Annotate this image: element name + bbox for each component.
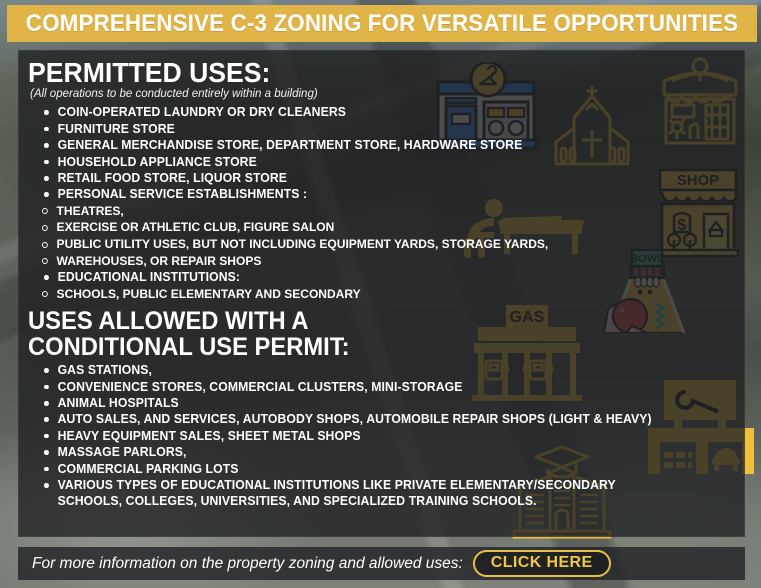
footer-bar: For more information on the property zon… [18, 547, 745, 580]
content-panel: PERMITTED USES: (All operations to be co… [18, 50, 745, 537]
educational-institutions-list: EDUCATIONAL INSTITUTIONS: [18, 269, 745, 285]
conditional-uses-list: GAS STATIONS, CONVENIENCE STORES, COMMER… [18, 362, 745, 510]
footer-text: For more information on the property zon… [32, 555, 463, 573]
header-bar: COMPREHENSIVE C-3 ZONING FOR VERSATILE O… [7, 5, 757, 42]
conditional-heading-line2: CONDITIONAL USE PERMIT: [28, 333, 350, 361]
list-item: EDUCATIONAL INSTITUTIONS: [44, 269, 724, 285]
list-item: RETAIL FOOD STORE, LIQUOR STORE [44, 170, 724, 186]
click-here-button[interactable]: CLICK HERE [473, 550, 611, 577]
permitted-uses-heading: PERMITTED USES: [28, 58, 709, 87]
list-item: FURNITURE STORE [44, 121, 724, 137]
list-item: SCHOOLS, PUBLIC ELEMENTARY AND SECONDARY [42, 286, 724, 303]
list-item: HEAVY EQUIPMENT SALES, SHEET METAL SHOPS [44, 428, 724, 444]
list-item: CONVENIENCE STORES, COMMERCIAL CLUSTERS,… [44, 379, 724, 395]
list-item: THEATRES, [42, 203, 724, 220]
list-item: HOUSEHOLD APPLIANCE STORE [44, 154, 724, 170]
infographic-canvas: COMPREHENSIVE C-3 ZONING FOR VERSATILE O… [0, 0, 761, 588]
list-item: PERSONAL SERVICE ESTABLISHMENTS : [44, 186, 724, 202]
conditional-heading-line1: USES ALLOWED WITH A [28, 307, 309, 335]
list-item: MASSAGE PARLORS, [44, 444, 724, 460]
list-item: WAREHOUSES, OR REPAIR SHOPS [42, 253, 724, 270]
page-title: COMPREHENSIVE C-3 ZONING FOR VERSATILE O… [26, 10, 738, 38]
conditional-uses-heading: USES ALLOWED WITH A CONDITIONAL USE PERM… [28, 308, 709, 360]
list-item: VARIOUS TYPES OF EDUCATIONAL INSTITUTION… [44, 477, 724, 493]
permitted-uses-list: COIN-OPERATED LAUNDRY OR DRY CLEANERS FU… [18, 104, 745, 202]
list-item: ANIMAL HOSPITALS [44, 395, 724, 411]
list-item: EXERCISE OR ATHLETIC CLUB, FIGURE SALON [42, 219, 724, 236]
personal-service-sublist: THEATRES, EXERCISE OR ATHLETIC CLUB, FIG… [18, 203, 745, 269]
list-item: COMMERCIAL PARKING LOTS [44, 461, 724, 477]
list-item: COIN-OPERATED LAUNDRY OR DRY CLEANERS [44, 104, 724, 120]
permitted-uses-note: (All operations to be conducted entirely… [30, 88, 745, 100]
list-item: AUTO SALES, AND SERVICES, AUTOBODY SHOPS… [44, 411, 724, 427]
list-item-continuation: SCHOOLS, COLLEGES, UNIVERSITIES, AND SPE… [44, 493, 724, 509]
list-item: GENERAL MERCHANDISE STORE, DEPARTMENT ST… [44, 137, 724, 153]
list-item: GAS STATIONS, [44, 362, 724, 378]
list-item: PUBLIC UTILITY USES, BUT NOT INCLUDING E… [42, 236, 724, 253]
educational-institutions-sublist: SCHOOLS, PUBLIC ELEMENTARY AND SECONDARY [18, 286, 745, 303]
